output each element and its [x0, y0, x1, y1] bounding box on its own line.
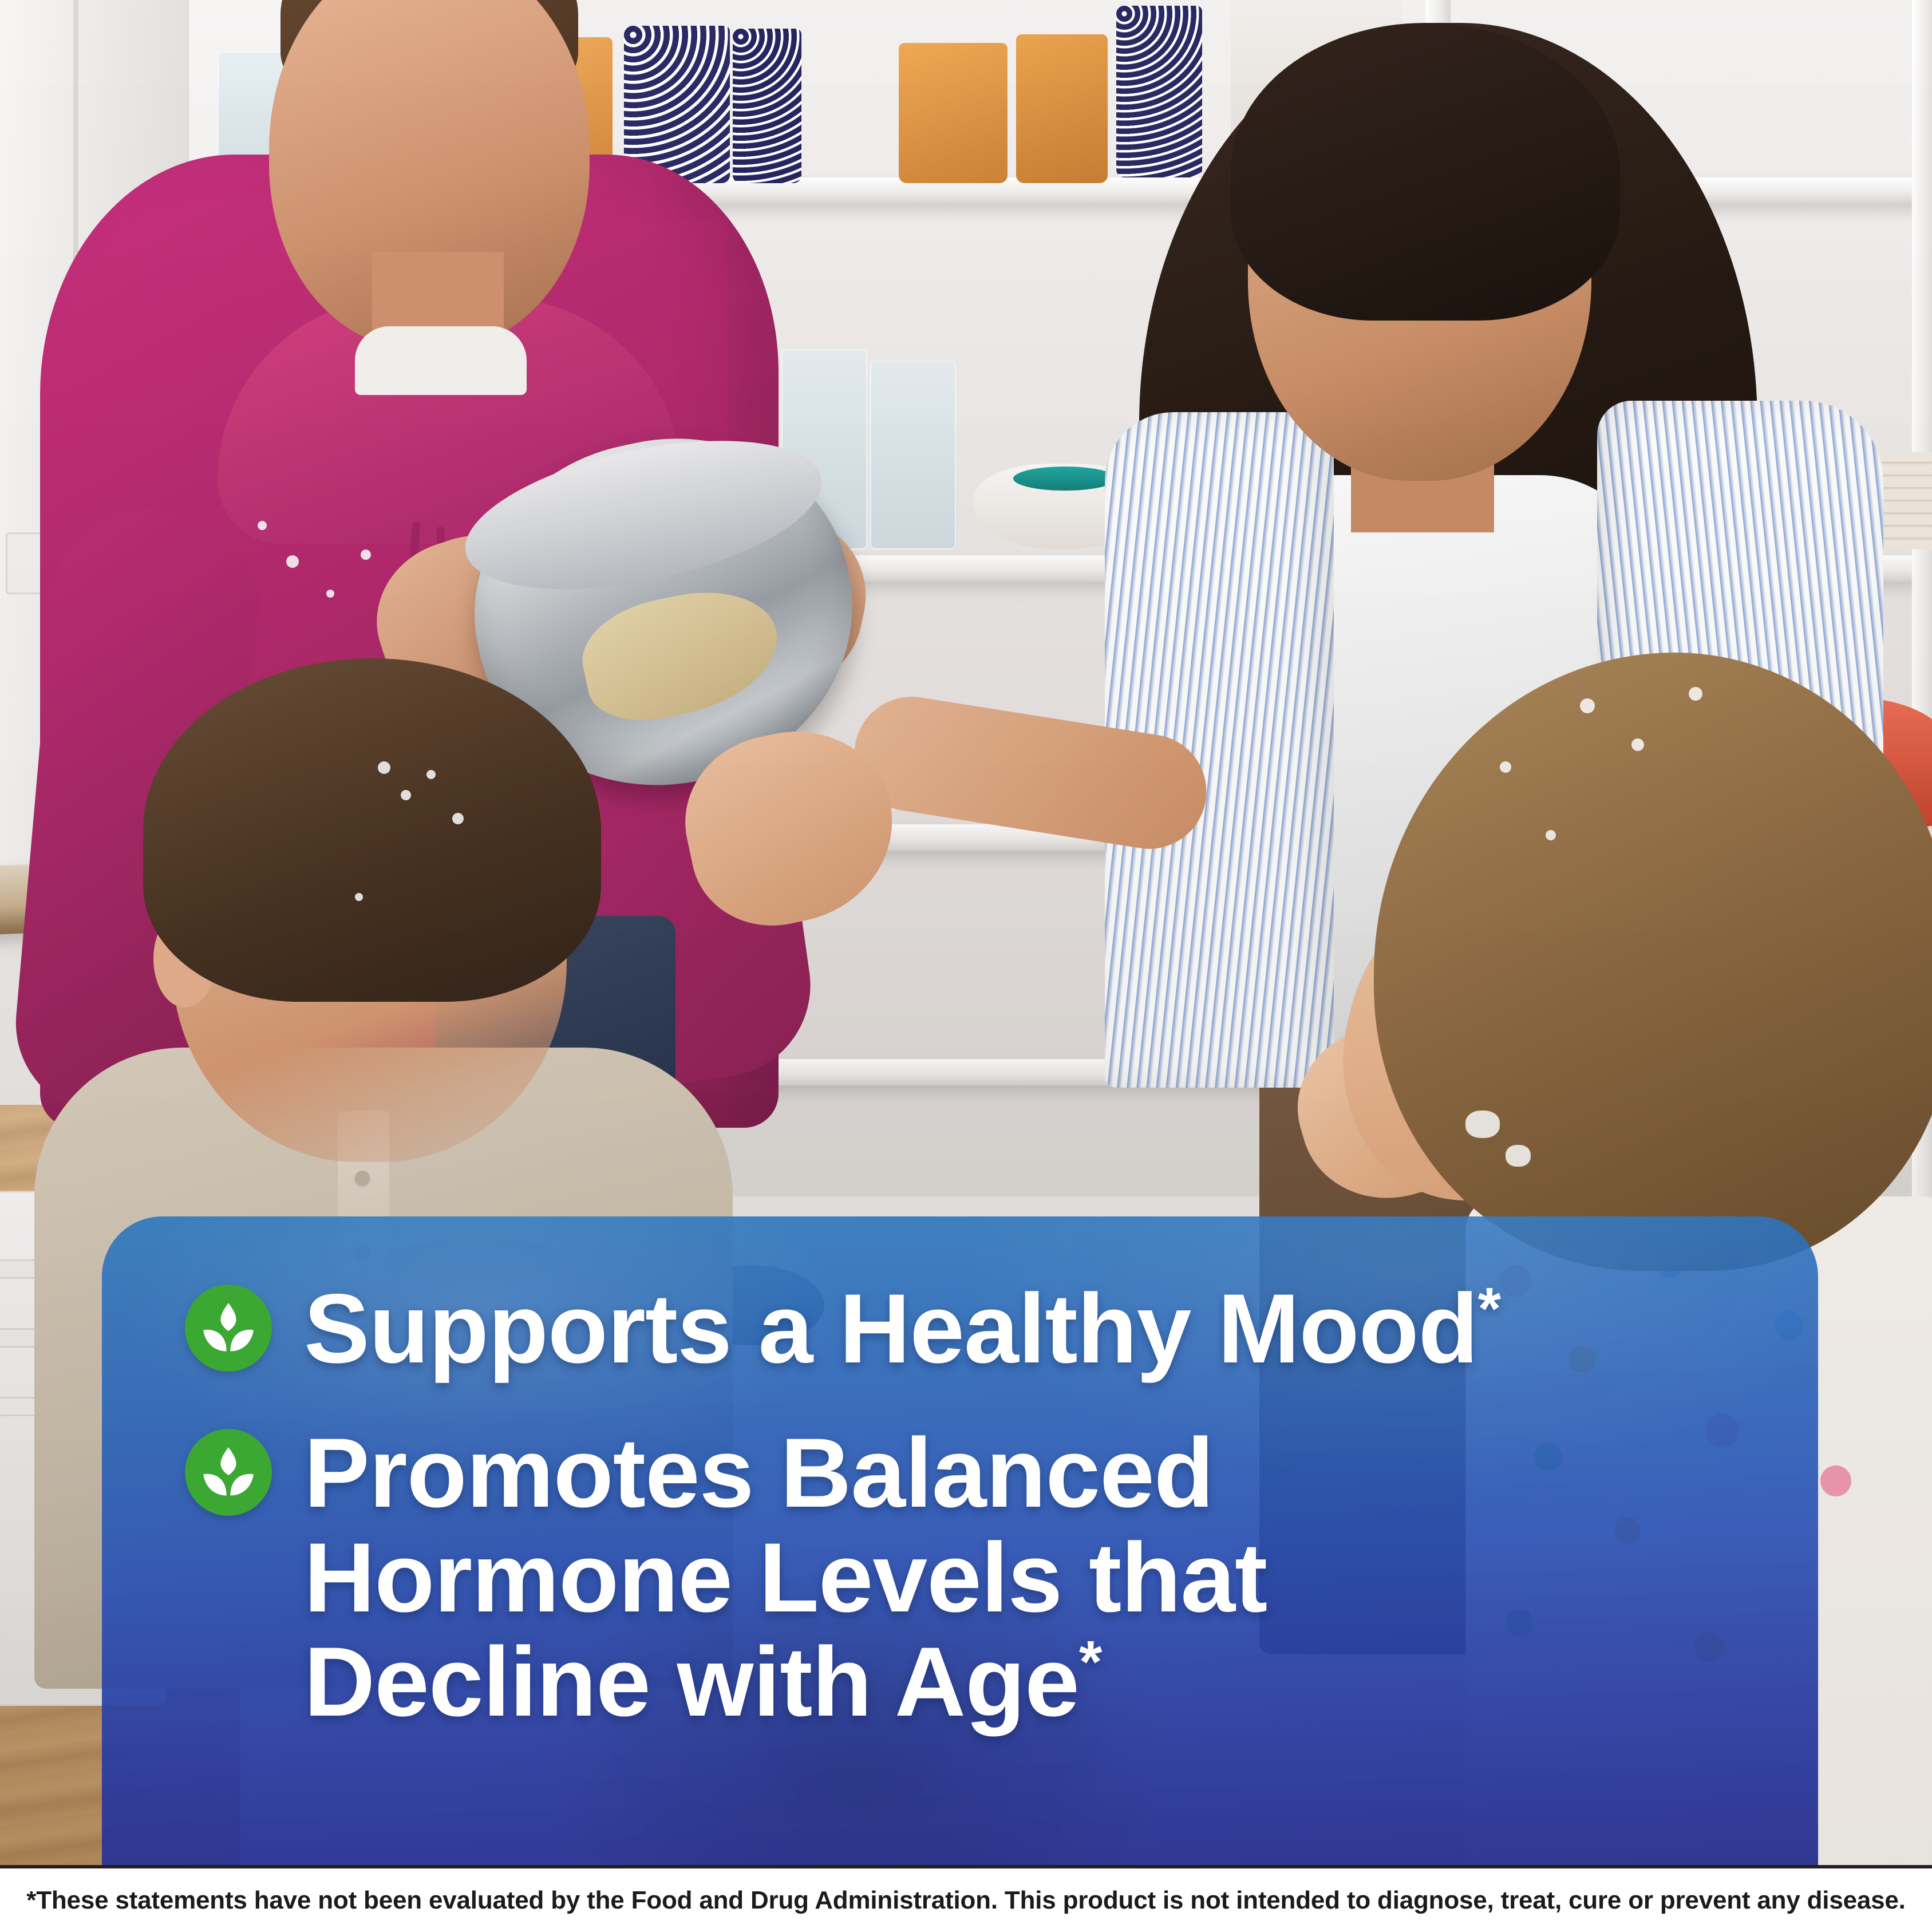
shelf-item-jar-navy	[733, 29, 801, 183]
dish-interior	[1013, 467, 1116, 491]
man-white-tee	[355, 326, 527, 395]
woman-hair-front	[1231, 23, 1620, 321]
benefits-panel: Supports a Healthy Mood* Promotes Balanc…	[102, 1216, 1818, 1865]
leaf-icon	[185, 1285, 272, 1372]
asterisk-marker: *	[1079, 1629, 1101, 1696]
benefit-label-1: Supports a Healthy Mood*	[304, 1277, 1500, 1381]
benefit-label-2: Promotes Balanced Hormone Levels that De…	[304, 1421, 1506, 1734]
benefit-item-1: Supports a Healthy Mood*	[185, 1277, 1749, 1381]
ad-banner: Supports a Healthy Mood* Promotes Balanc…	[0, 0, 1932, 1932]
boy-hair	[143, 658, 601, 1002]
benefit-item-2: Promotes Balanced Hormone Levels that De…	[185, 1421, 1749, 1734]
benefits-list: Supports a Healthy Mood* Promotes Balanc…	[102, 1216, 1818, 1865]
asterisk-marker: *	[1478, 1276, 1500, 1342]
fda-disclaimer-text: *These statements have not been evaluate…	[26, 1886, 1905, 1915]
dough	[572, 577, 789, 732]
fda-disclaimer-bar: *These statements have not been evaluate…	[0, 1865, 1932, 1932]
leaf-icon	[185, 1429, 272, 1516]
shelf-item-jar-orange	[899, 43, 1008, 183]
shelf-item-jar-orange	[1016, 34, 1108, 183]
shelf-item-glass	[870, 361, 956, 550]
shelf-item-jar-navy	[1116, 6, 1202, 177]
